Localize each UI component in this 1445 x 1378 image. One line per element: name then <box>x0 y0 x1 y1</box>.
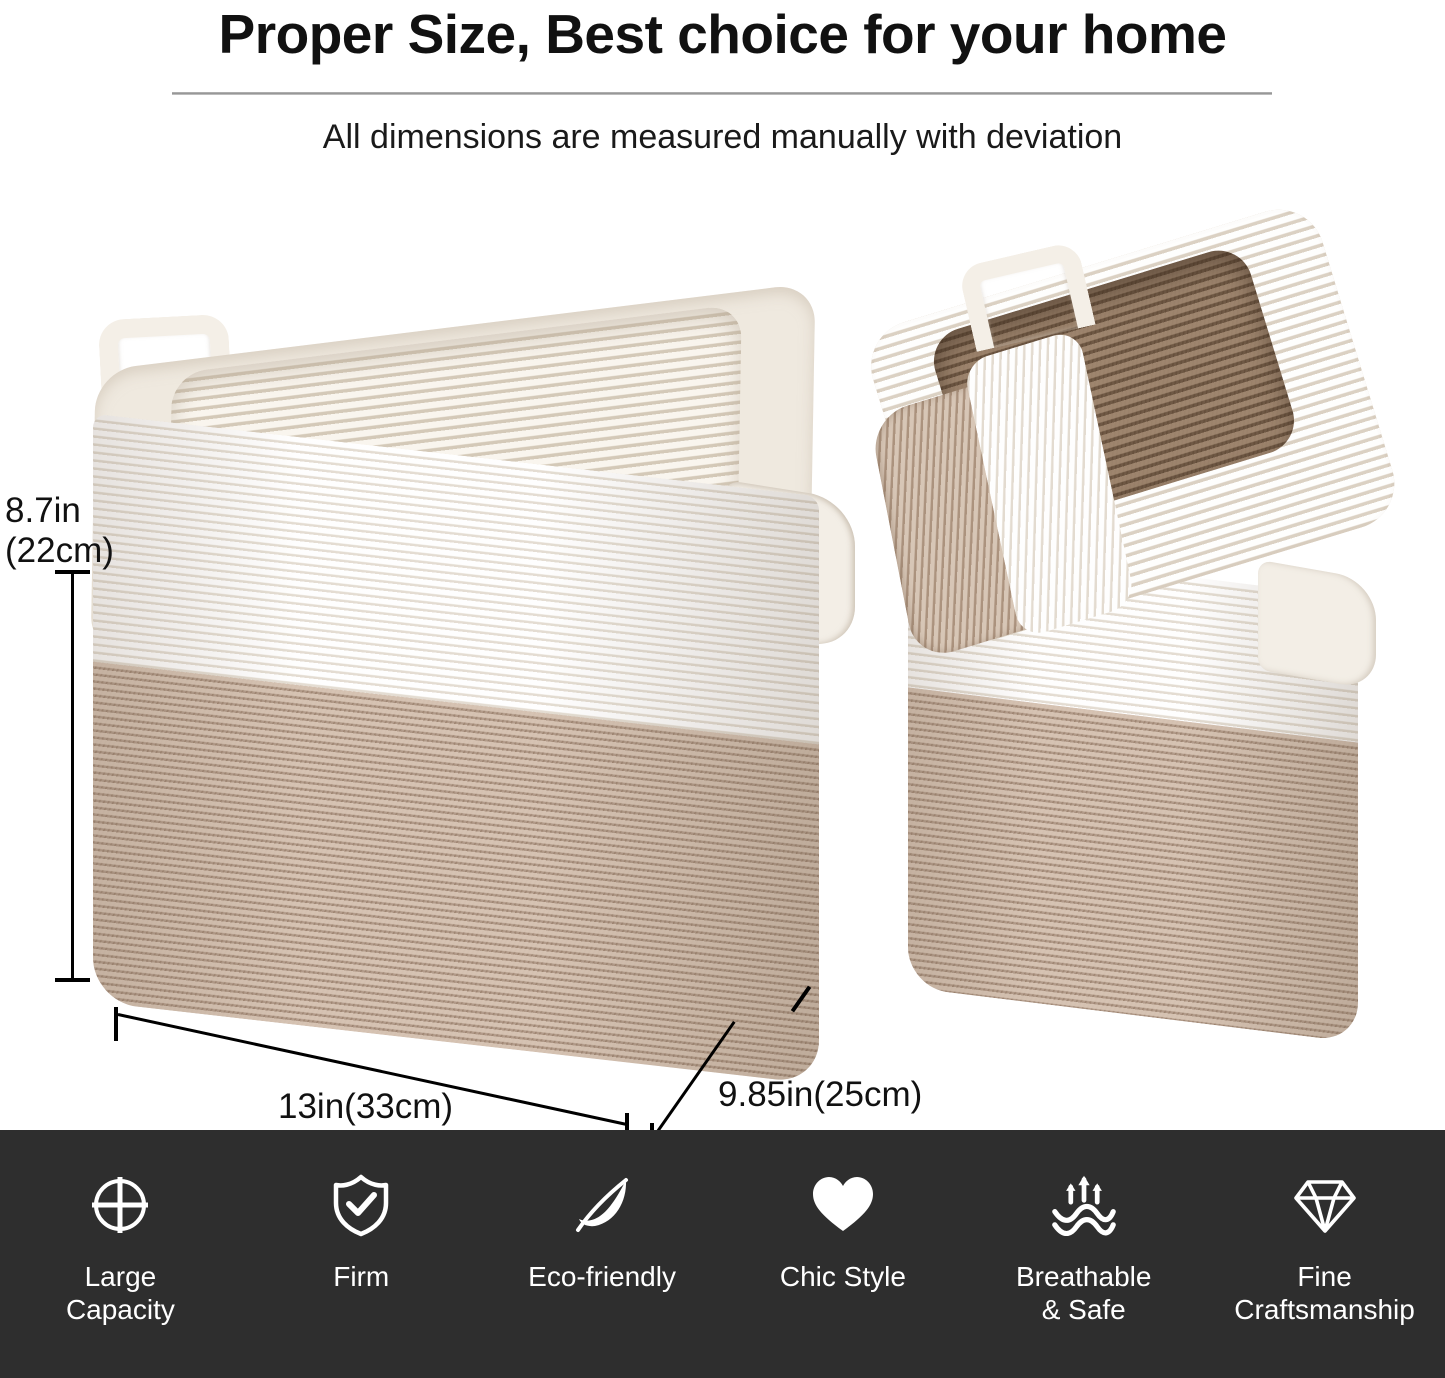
feature-label: Chic Style <box>780 1260 906 1293</box>
depth-dimension-label: 9.85in(25cm) <box>718 1075 922 1115</box>
diamond-icon <box>1292 1172 1358 1238</box>
feature-bar: Large Capacity Firm Eco-friendly Chic St… <box>0 1130 1445 1378</box>
height-dimension-line <box>71 572 74 980</box>
page-title: Proper Size, Best choice for your home <box>0 2 1445 66</box>
breathable-waves-icon <box>1051 1172 1117 1238</box>
width-dimension-label: 13in(33cm) <box>278 1087 453 1127</box>
header-divider <box>172 92 1272 95</box>
page-subtitle: All dimensions are measured manually wit… <box>0 118 1445 157</box>
height-dimension-cap-top <box>55 570 90 574</box>
header: Proper Size, Best choice for your home A… <box>0 0 1445 175</box>
width-dimension-cap-left <box>114 1007 118 1041</box>
heart-icon <box>810 1172 876 1238</box>
circle-plus-icon <box>87 1172 153 1238</box>
height-dimension-inches: 8.7in <box>5 491 114 531</box>
shield-check-icon <box>328 1172 394 1238</box>
feature-breathable-safe: Breathable & Safe <box>963 1130 1204 1326</box>
feature-eco-friendly: Eco-friendly <box>482 1130 723 1293</box>
feature-fine-craftsmanship: Fine Craftsmanship <box>1204 1130 1445 1326</box>
feature-label: Eco-friendly <box>528 1260 676 1293</box>
lower-basket-tan-shading <box>908 687 1358 1042</box>
feature-chic-style: Chic Style <box>722 1130 963 1293</box>
main-basket-image <box>75 305 875 1125</box>
height-dimension-cap-bottom <box>55 978 90 982</box>
feature-label: Firm <box>333 1260 389 1293</box>
feature-large-capacity: Large Capacity <box>0 1130 241 1326</box>
leaf-icon <box>569 1172 635 1238</box>
height-dimension-label: 8.7in (22cm) <box>5 491 114 571</box>
feature-firm: Firm <box>241 1130 482 1293</box>
feature-label: Fine Craftsmanship <box>1234 1260 1415 1326</box>
stacked-baskets-image <box>880 215 1420 1095</box>
feature-label: Breathable & Safe <box>1016 1260 1151 1326</box>
lower-basket-tan-band <box>908 687 1358 1042</box>
feature-label: Large Capacity <box>66 1260 175 1326</box>
height-dimension-cm: (22cm) <box>5 531 114 571</box>
product-stage: 8.7in (22cm) 13in(33cm) 9.85in(25cm) <box>0 175 1445 1130</box>
